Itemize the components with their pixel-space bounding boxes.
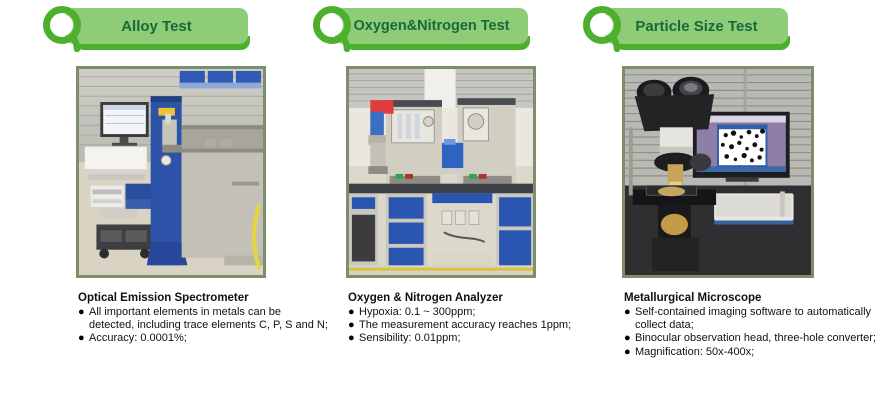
bullet-icon: ● <box>624 346 631 359</box>
bullet-icon: ● <box>348 306 355 319</box>
spec-bullet: ●Sensibility: 0.01ppm; <box>348 332 598 345</box>
photo-optical-emission-spectrometer <box>76 66 266 278</box>
column-particle-size-test: Particle Size Test <box>580 0 860 406</box>
column-oxygen-nitrogen-test: Oxygen&Nitrogen Test <box>310 0 590 406</box>
spec-list: ●Hypoxia: 0.1 ~ 300ppm; ●The measurement… <box>348 306 598 346</box>
spec-title-metallurgical-microscope: Metallurgical Microscope <box>624 291 875 305</box>
column-alloy-test: Alloy Test <box>40 0 320 406</box>
spec-bullet-text: Self-contained imaging software to autom… <box>635 306 871 331</box>
spec-bullet-text: Hypoxia: 0.1 ~ 300ppm; <box>359 306 476 318</box>
photo-artwork <box>625 69 811 275</box>
badge-label-particle-size-test: Particle Size Test <box>605 8 788 44</box>
magnifier-icon <box>583 6 627 52</box>
spec-block-oxygen-nitrogen-test: Oxygen & Nitrogen Analyzer ●Hypoxia: 0.1… <box>348 291 598 346</box>
badge-oxygen-nitrogen-test[interactable]: Oxygen&Nitrogen Test <box>310 0 590 56</box>
spec-bullet: ●Magnification: 50x-400x; <box>624 346 875 359</box>
spec-bullet-text: All important elements in metals can be … <box>89 306 328 331</box>
photo-oxygen-nitrogen-analyzer <box>346 66 536 278</box>
spec-bullet: ●Hypoxia: 0.1 ~ 300ppm; <box>348 306 598 319</box>
spec-bullet: ●All important elements in metals can be… <box>78 306 328 332</box>
bullet-icon: ● <box>78 306 85 319</box>
bullet-icon: ● <box>348 332 355 345</box>
spec-title-oxygen-nitrogen-analyzer: Oxygen & Nitrogen Analyzer <box>348 291 598 305</box>
spec-bullet-text: Magnification: 50x-400x; <box>635 346 754 358</box>
magnifier-icon <box>43 6 87 52</box>
badge-label-oxygen-nitrogen-test: Oxygen&Nitrogen Test <box>335 8 528 44</box>
bullet-icon: ● <box>624 306 631 319</box>
spec-bullet-text: Sensibility: 0.01ppm; <box>359 332 461 344</box>
spec-block-particle-size-test: Metallurgical Microscope ●Self-contained… <box>624 291 875 359</box>
spec-bullet: ●Self-contained imaging software to auto… <box>624 306 875 332</box>
spec-list: ●Self-contained imaging software to auto… <box>624 306 875 359</box>
bullet-icon: ● <box>348 319 355 332</box>
badge-label-alloy-test: Alloy Test <box>65 8 248 44</box>
spec-title-optical-emission-spectrometer: Optical Emission Spectrometer <box>78 291 328 305</box>
spec-bullet: ●Binocular observation head, three-hole … <box>624 332 875 345</box>
photo-artwork <box>349 69 533 275</box>
spec-list: ●All important elements in metals can be… <box>78 306 328 346</box>
photo-metallurgical-microscope <box>622 66 814 278</box>
spec-bullet: ●The measurement accuracy reaches 1ppm; <box>348 319 598 332</box>
spec-block-alloy-test: Optical Emission Spectrometer ●All impor… <box>78 291 328 346</box>
spec-bullet: ●Accuracy: 0.0001%; <box>78 332 328 345</box>
spec-bullet-text: The measurement accuracy reaches 1ppm; <box>359 319 571 331</box>
photo-artwork <box>79 69 263 275</box>
bullet-icon: ● <box>78 332 85 345</box>
badge-particle-size-test[interactable]: Particle Size Test <box>580 0 860 56</box>
spec-bullet-text: Binocular observation head, three-hole c… <box>635 332 875 344</box>
badge-alloy-test[interactable]: Alloy Test <box>40 0 320 56</box>
magnifier-icon <box>313 6 357 52</box>
bullet-icon: ● <box>624 332 631 345</box>
equipment-showcase-board: Alloy Test <box>0 0 875 406</box>
spec-bullet-text: Accuracy: 0.0001%; <box>89 332 187 344</box>
